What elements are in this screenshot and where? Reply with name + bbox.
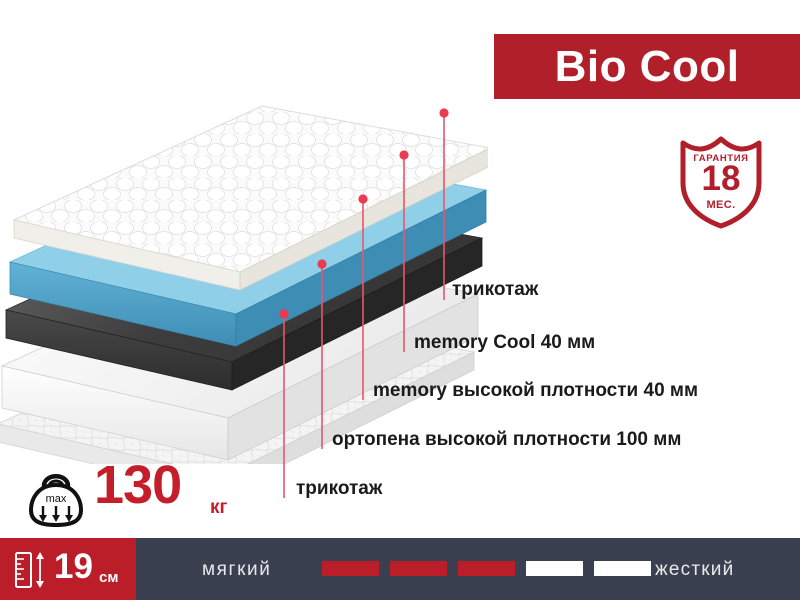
firmness-soft-label: мягкий — [202, 560, 271, 579]
kettlebell-icon: max — [28, 466, 84, 528]
brand-name: Bio Cool — [555, 45, 740, 89]
product-infographic: трикотаж memory Cool 40 мм memory высоко… — [0, 0, 800, 600]
height-block: 19 см — [0, 538, 136, 600]
guarantee-badge: ГАРАНТИЯ 18 МЕС. — [678, 133, 764, 229]
firmness-segment-3 — [458, 561, 515, 576]
layer-label-memory-cool: memory Cool 40 мм — [414, 333, 595, 352]
height-unit: см — [99, 570, 118, 585]
layer-label-knit-bottom: трикотаж — [296, 479, 382, 498]
layer-label-memory-dense: memory высокой плотности 40 мм — [373, 381, 698, 400]
guarantee-months-value: 18 — [678, 161, 764, 196]
max-weight-block: max 130 кг — [28, 462, 258, 534]
firmness-segment-1 — [322, 561, 379, 576]
firmness-hard-label: жесткий — [655, 560, 734, 579]
max-weight-value: 130 — [94, 458, 181, 512]
firmness-scale — [322, 561, 651, 576]
guarantee-bottom-text: МЕС. — [678, 199, 764, 211]
max-weight-unit: кг — [210, 498, 227, 517]
layer-label-ortopena: ортопена высокой плотности 100 мм — [332, 430, 681, 449]
svg-text:max: max — [46, 493, 67, 505]
firmness-segment-5 — [594, 561, 651, 576]
ruler-icon — [14, 551, 48, 589]
firmness-segment-2 — [390, 561, 447, 576]
layer-label-knit-top: трикотаж — [452, 280, 538, 299]
height-value: 19 — [54, 549, 93, 584]
firmness-segment-4 — [526, 561, 583, 576]
brand-banner: Bio Cool — [494, 34, 800, 99]
